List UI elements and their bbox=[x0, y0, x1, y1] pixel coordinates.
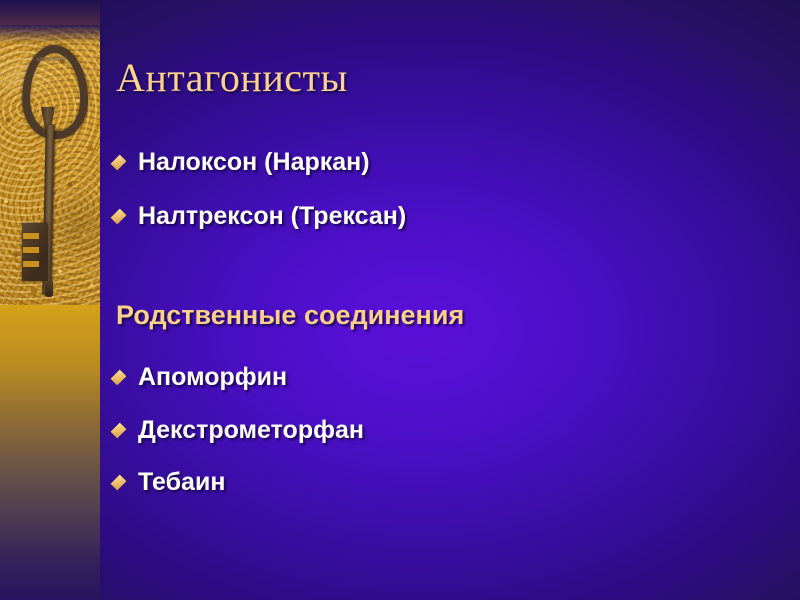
diamond-bullet-icon bbox=[111, 370, 127, 386]
diamond-bullet-icon bbox=[111, 209, 127, 225]
slide-title: Антагонисты bbox=[116, 54, 348, 101]
key-tip bbox=[45, 281, 53, 297]
list-item-label: Апоморфин bbox=[138, 365, 287, 390]
list-item-label: Тебаин bbox=[138, 470, 225, 495]
key-bit-tooth bbox=[23, 233, 39, 239]
list-item: Налоксон (Наркан) bbox=[112, 150, 370, 175]
list-item-label: Декстрометорфан bbox=[138, 418, 364, 443]
key-bit-tooth bbox=[23, 247, 39, 253]
section-subheading: Родственные соединения bbox=[116, 300, 464, 331]
diamond-bullet-icon bbox=[111, 155, 127, 171]
slide-content: Антагонисты Налоксон (Наркан) Налтрексон… bbox=[100, 0, 800, 600]
antique-key-icon bbox=[18, 45, 78, 295]
list-item: Декстрометорфан bbox=[112, 418, 364, 443]
list-item-label: Налтрексон (Трексан) bbox=[138, 204, 406, 229]
presentation-slide: Антагонисты Налоксон (Наркан) Налтрексон… bbox=[0, 0, 800, 600]
side-decoration-panel bbox=[0, 0, 100, 600]
key-bit bbox=[22, 223, 48, 281]
key-bit-tooth bbox=[23, 261, 39, 267]
list-item: Тебаин bbox=[112, 470, 225, 495]
list-item: Апоморфин bbox=[112, 365, 287, 390]
diamond-bullet-icon bbox=[111, 423, 127, 439]
list-item: Налтрексон (Трексан) bbox=[112, 204, 406, 229]
diamond-bullet-icon bbox=[111, 475, 127, 491]
list-item-label: Налоксон (Наркан) bbox=[138, 150, 370, 175]
